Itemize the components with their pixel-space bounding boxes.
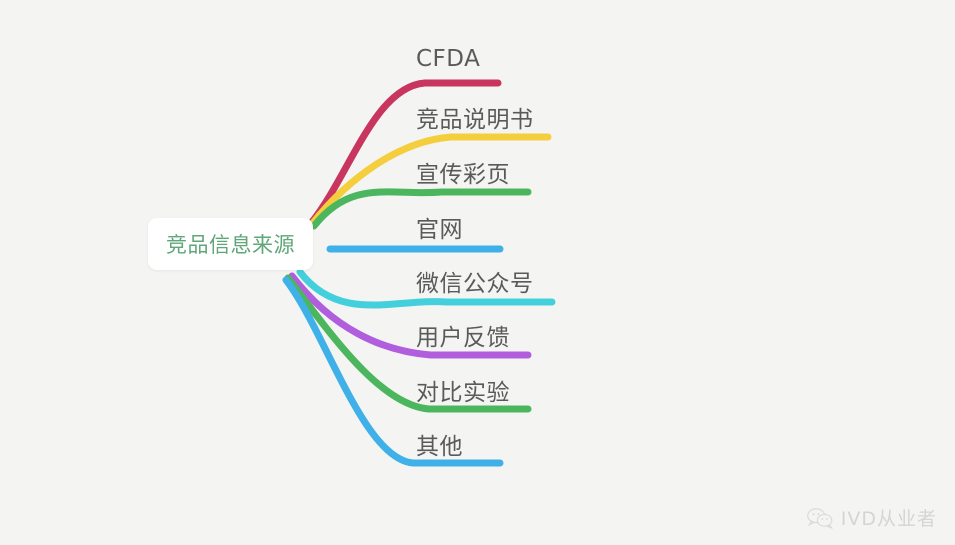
wechat-icon (807, 507, 833, 529)
branch-label[interactable]: 宣传彩页 (416, 155, 510, 189)
mindmap-canvas: 竞品信息来源 CFDA竞品说明书宣传彩页官网微信公众号用户反馈对比实验其他 IV… (0, 0, 955, 545)
branch-label[interactable]: 用户反馈 (416, 318, 510, 352)
branch-label[interactable]: CFDA (416, 46, 480, 72)
branch-label[interactable]: 对比实验 (416, 373, 510, 407)
branch-line[interactable] (286, 280, 500, 463)
branch-label[interactable]: 其他 (416, 427, 463, 461)
watermark: IVD从业者 (807, 504, 937, 531)
root-node[interactable]: 竞品信息来源 (148, 218, 313, 270)
root-node-label: 竞品信息来源 (166, 229, 295, 259)
branch-label[interactable]: 竞品说明书 (416, 100, 534, 134)
branch-label[interactable]: 官网 (416, 210, 463, 244)
branch-label[interactable]: 微信公众号 (416, 264, 534, 298)
watermark-text: IVD从业者 (841, 504, 937, 531)
